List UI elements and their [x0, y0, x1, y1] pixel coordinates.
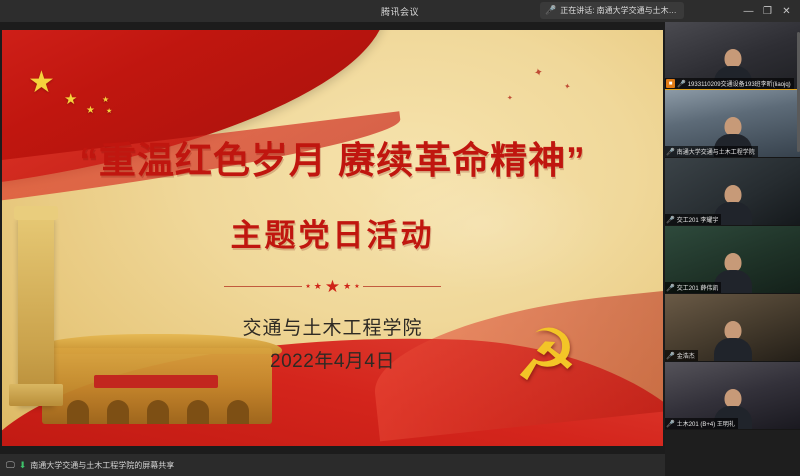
- participant-video-sidebar[interactable]: ■🎤1933110209交通设备193班李昕(liaojq)🎤南通大学交通与土木…: [665, 22, 800, 476]
- microphone-icon: 🎤: [545, 6, 556, 15]
- participant-name-bar: 🎤土木201 (B+4) 王明礼: [665, 418, 738, 429]
- participant-name: 土木201 (B+4) 王明礼: [677, 419, 735, 428]
- screen-share-status-text: 南通大学交通与土木工程学院的屏幕共享: [30, 460, 174, 471]
- participant-name: 交工201 薛伟凯: [677, 283, 719, 292]
- slide-date: 2022年4月4日: [2, 346, 663, 373]
- window-controls: — ❐ ✕: [739, 0, 796, 22]
- participant-tile[interactable]: 🎤交工201 薛伟凯: [665, 226, 800, 294]
- participant-tile[interactable]: 🎤金浩杰: [665, 294, 800, 362]
- divider-line-left: [224, 286, 302, 287]
- microphone-icon: 🎤: [666, 420, 675, 428]
- participant-tile[interactable]: 🎤南通大学交通与土木工程学院: [665, 90, 800, 158]
- participant-name-bar: 🎤交工201 薛伟凯: [665, 282, 721, 293]
- slide-organization: 交通与土木工程学院: [2, 313, 663, 340]
- app-title: 腾讯会议: [381, 5, 419, 18]
- speaking-indicator: 🎤 正在讲话: 南通大学交通与土木…: [540, 2, 684, 19]
- participant-name: 金浩杰: [677, 351, 695, 360]
- divider-star-icon: ★: [343, 282, 351, 291]
- title-bar: 腾讯会议 🎤 正在讲话: 南通大学交通与土木… — ❐ ✕: [0, 0, 800, 22]
- participant-name-bar: 🎤南通大学交通与土木工程学院: [665, 146, 758, 157]
- star-divider: ★ ★ ★ ★ ★: [2, 278, 663, 295]
- tencent-meeting-window: 腾讯会议 🎤 正在讲话: 南通大学交通与土木… — ❐ ✕ ★ ★ ★ ★ ★ …: [0, 0, 800, 476]
- participant-name-bar: 🎤金浩杰: [665, 350, 698, 361]
- participant-name-bar: 🎤交工201 李耀宇: [665, 214, 721, 225]
- microphone-icon: 🎤: [666, 352, 675, 360]
- participant-tile[interactable]: 🎤土木201 (B+4) 王明礼: [665, 362, 800, 430]
- slide-title-sub: 主题党日活动: [2, 210, 663, 255]
- participant-name: 交工201 李耀宇: [677, 215, 719, 224]
- participant-silhouette: [714, 321, 752, 361]
- divider-star-icon: ★: [325, 278, 340, 295]
- microphone-icon: 🎤: [666, 284, 675, 292]
- microphone-icon: 🎤: [666, 216, 675, 224]
- shared-screen-stage[interactable]: ★ ★ ★ ★ ★ ✦ ✦ ✦ ☭ “重温红色岁月 赓续革命精神” 主题党日活动: [0, 22, 665, 454]
- self-badge-icon: ■: [666, 79, 675, 88]
- monitor-icon: 🖵: [6, 460, 15, 471]
- participant-name: 南通大学交通与土木工程学院: [677, 147, 755, 156]
- download-arrow-icon: ⬇: [19, 460, 27, 471]
- speaking-indicator-text: 正在讲话: 南通大学交通与土木…: [560, 5, 676, 16]
- participant-name: 1933110209交通设备193班李昕(liaojq): [688, 79, 791, 88]
- slide-text-layer: “重温红色岁月 赓续革命精神” 主题党日活动 ★ ★ ★ ★ ★ 交通与土木工程…: [2, 30, 663, 446]
- microphone-icon: 🎤: [666, 148, 675, 156]
- screen-share-status-bar: 🖵 ⬇ 南通大学交通与土木工程学院的屏幕共享: [0, 454, 665, 476]
- divider-star-icon: ★: [314, 282, 322, 291]
- divider-star-icon: ★: [305, 284, 310, 290]
- divider-star-icon: ★: [354, 284, 359, 290]
- microphone-icon: 🎤: [677, 80, 686, 88]
- minimize-button[interactable]: —: [739, 0, 758, 22]
- participant-tile[interactable]: 🎤交工201 李耀宇: [665, 158, 800, 226]
- divider-line-right: [363, 286, 441, 287]
- presentation-slide: ★ ★ ★ ★ ★ ✦ ✦ ✦ ☭ “重温红色岁月 赓续革命精神” 主题党日活动: [2, 30, 663, 446]
- slide-title-main: “重温红色岁月 赓续革命精神”: [2, 130, 663, 184]
- participant-name-bar: ■🎤1933110209交通设备193班李昕(liaojq): [665, 78, 794, 89]
- close-button[interactable]: ✕: [777, 0, 796, 22]
- participant-tile[interactable]: ■🎤1933110209交通设备193班李昕(liaojq): [665, 22, 800, 90]
- maximize-button[interactable]: ❐: [758, 0, 777, 22]
